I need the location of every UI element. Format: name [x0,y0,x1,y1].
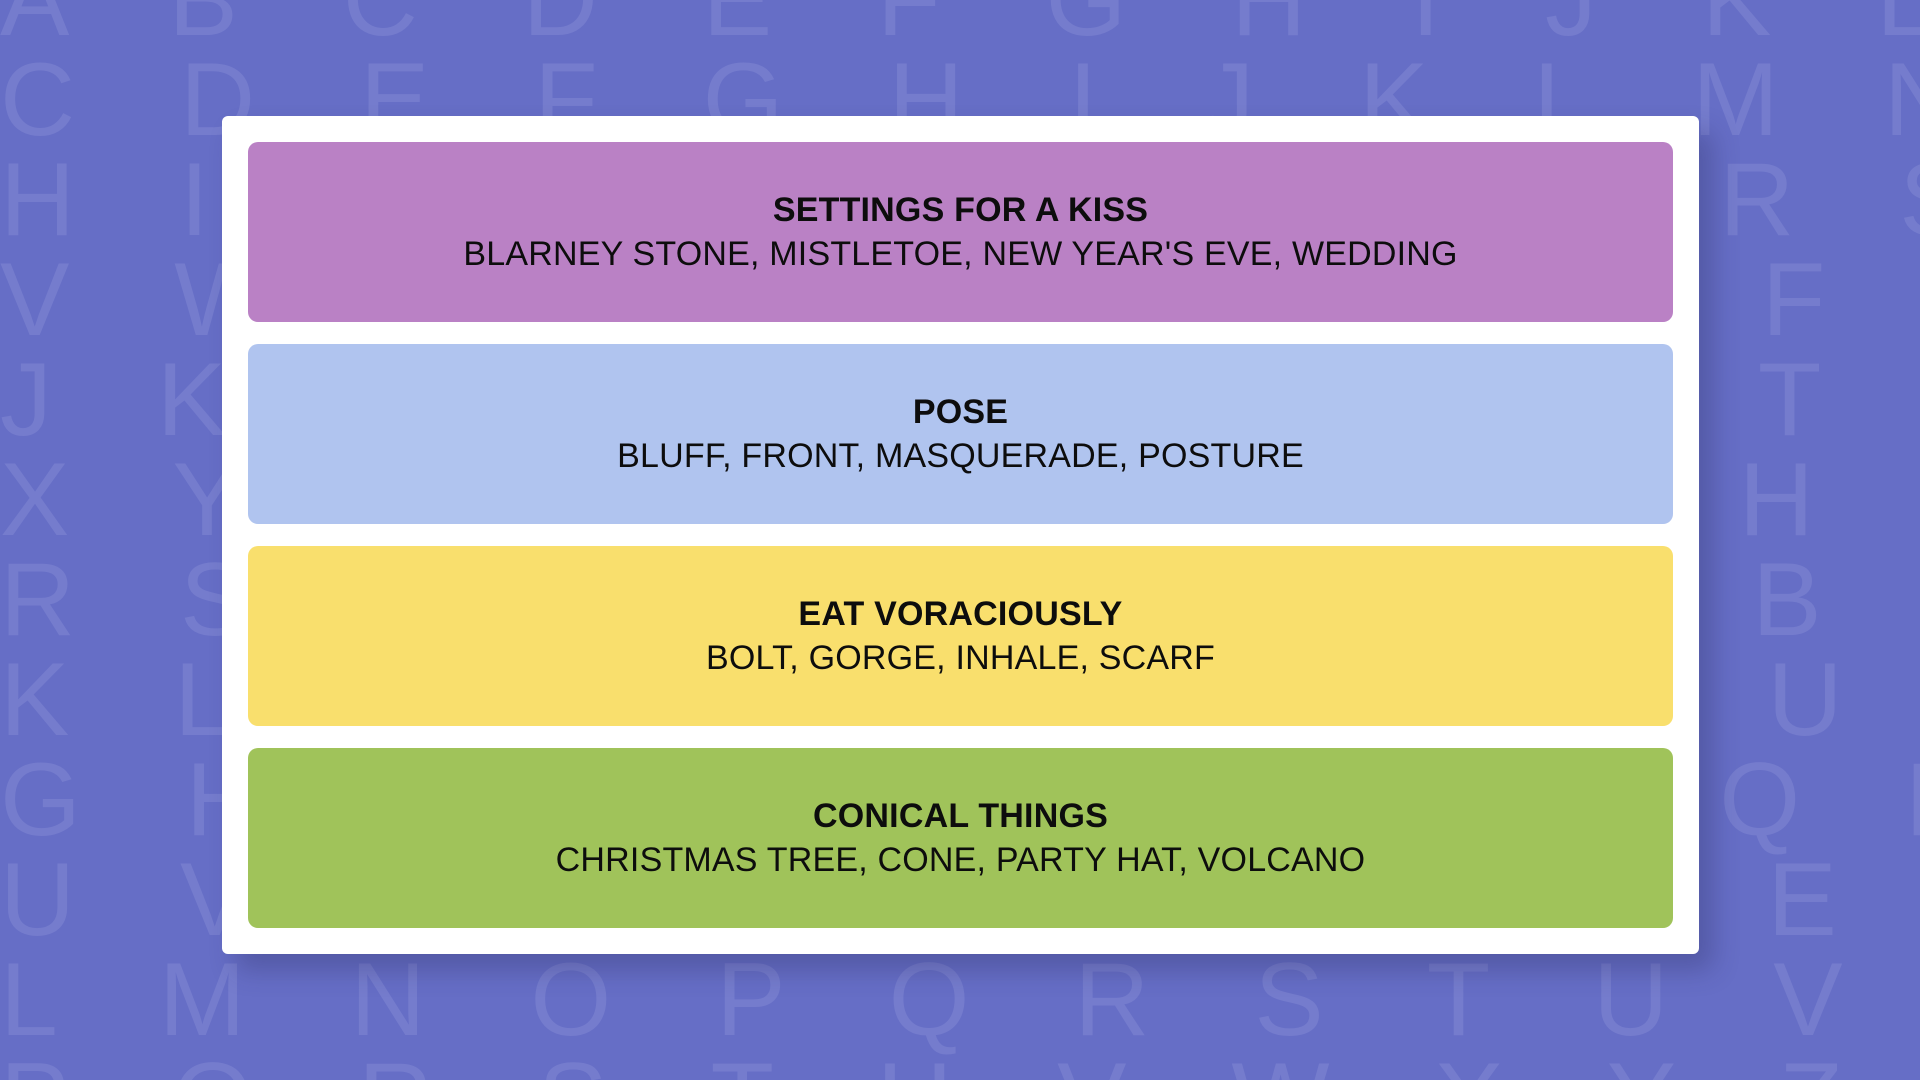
group-row-eat-voraciously: EAT VORACIOUSLY BOLT, GORGE, INHALE, SCA… [248,546,1673,726]
group-title: EAT VORACIOUSLY [798,594,1122,634]
group-title: CONICAL THINGS [813,796,1108,836]
group-title: SETTINGS FOR A KISS [773,190,1148,230]
group-row-pose: POSE BLUFF, FRONT, MASQUERADE, POSTURE [248,344,1673,524]
group-title: POSE [913,392,1008,432]
background-letter-row: P Q R S T U V W X Y Z A B C D E F G H I … [0,1048,1920,1080]
group-row-conical-things: CONICAL THINGS CHRISTMAS TREE, CONE, PAR… [248,748,1673,928]
solution-card: SETTINGS FOR A KISS BLARNEY STONE, MISTL… [222,116,1699,954]
group-words: CHRISTMAS TREE, CONE, PARTY HAT, VOLCANO [556,840,1366,880]
group-words: BOLT, GORGE, INHALE, SCARF [706,638,1215,678]
group-words: BLARNEY STONE, MISTLETOE, NEW YEAR'S EVE… [463,234,1457,274]
group-row-settings-for-a-kiss: SETTINGS FOR A KISS BLARNEY STONE, MISTL… [248,142,1673,322]
group-words: BLUFF, FRONT, MASQUERADE, POSTURE [617,436,1304,476]
puzzle-results-screen: A B C D E F G H I J K L M N O P Q R S T … [0,0,1920,1080]
background-letter-row: L M N O P Q R S T U V W X Y Z A B C D E … [0,948,1920,1052]
